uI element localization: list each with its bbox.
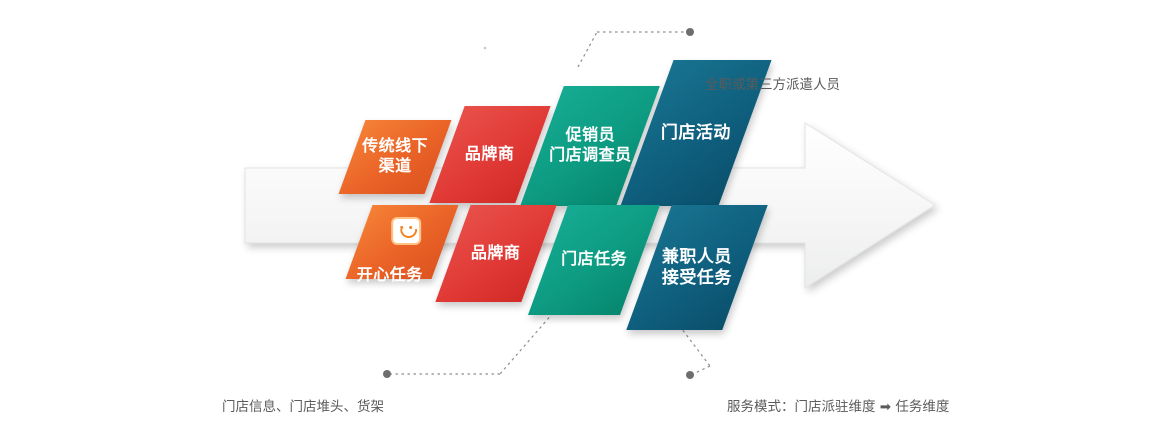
annotation-store-data-line-1: 门店信息、门店堆头、货架	[222, 394, 384, 421]
annotation-fulltime-staff-line-1: 全职或第三方派遣人员	[705, 73, 840, 98]
annotation-fulltime-staff: 全职或第三方派遣人员	[705, 23, 840, 148]
annotation-service-model-line-1: 服务模式：门店派驻维度 ➡ 任务维度	[727, 394, 976, 421]
annotations-layer: 全职或第三方派遣人员 门店信息、门店堆头、货架 数据采集、销量上报 服务模式：门…	[0, 0, 1150, 430]
annotation-store-data-collection: 门店信息、门店堆头、货架 数据采集、销量上报	[222, 340, 384, 430]
diagram-canvas: 传统线下 渠道 品牌商 促销员 门店调查员 门店活动 开心任务 品牌商	[0, 0, 1150, 430]
annotation-service-model-change: 服务模式：门店派驻维度 ➡ 任务维度 人员合作：长期合约 ➡ 短期碎片工单模式	[727, 340, 976, 430]
